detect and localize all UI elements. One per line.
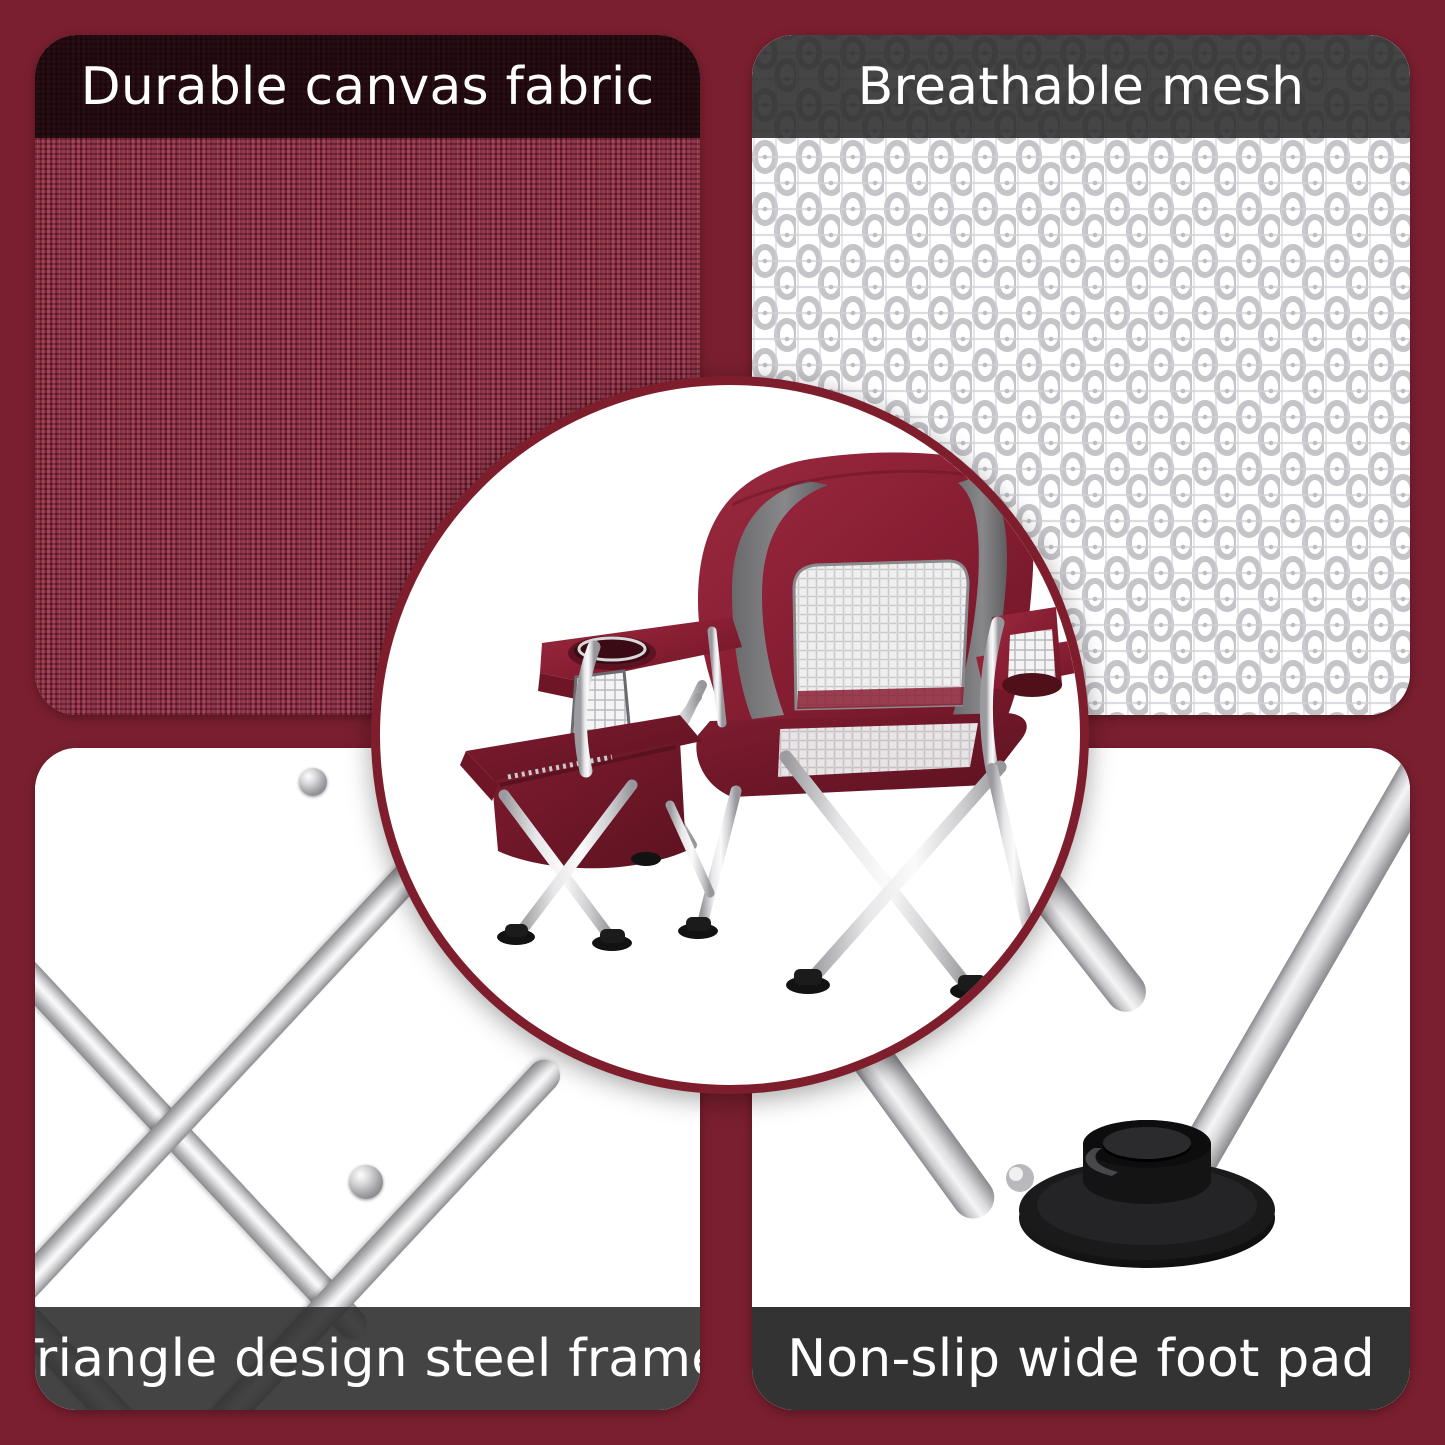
camping-chair-illustration: [380, 385, 1080, 1085]
panel-label-canvas-fabric: Durable canvas fabric: [35, 35, 700, 138]
product-spotlight-circle: [371, 376, 1089, 1094]
panel-label-foot-pad: Non-slip wide foot pad: [752, 1307, 1410, 1410]
steel-rivet-center: [349, 1165, 383, 1199]
infographic-canvas: Durable canvas fabric: [0, 0, 1445, 1445]
chair-foot-pads: [497, 852, 1056, 1000]
steel-rivet-top: [299, 768, 327, 796]
panel-label-steel-frame: Triangle design steel frame: [35, 1307, 700, 1410]
panel-label-breathable-mesh: Breathable mesh: [752, 35, 1410, 138]
backrest-mesh: [794, 561, 968, 709]
